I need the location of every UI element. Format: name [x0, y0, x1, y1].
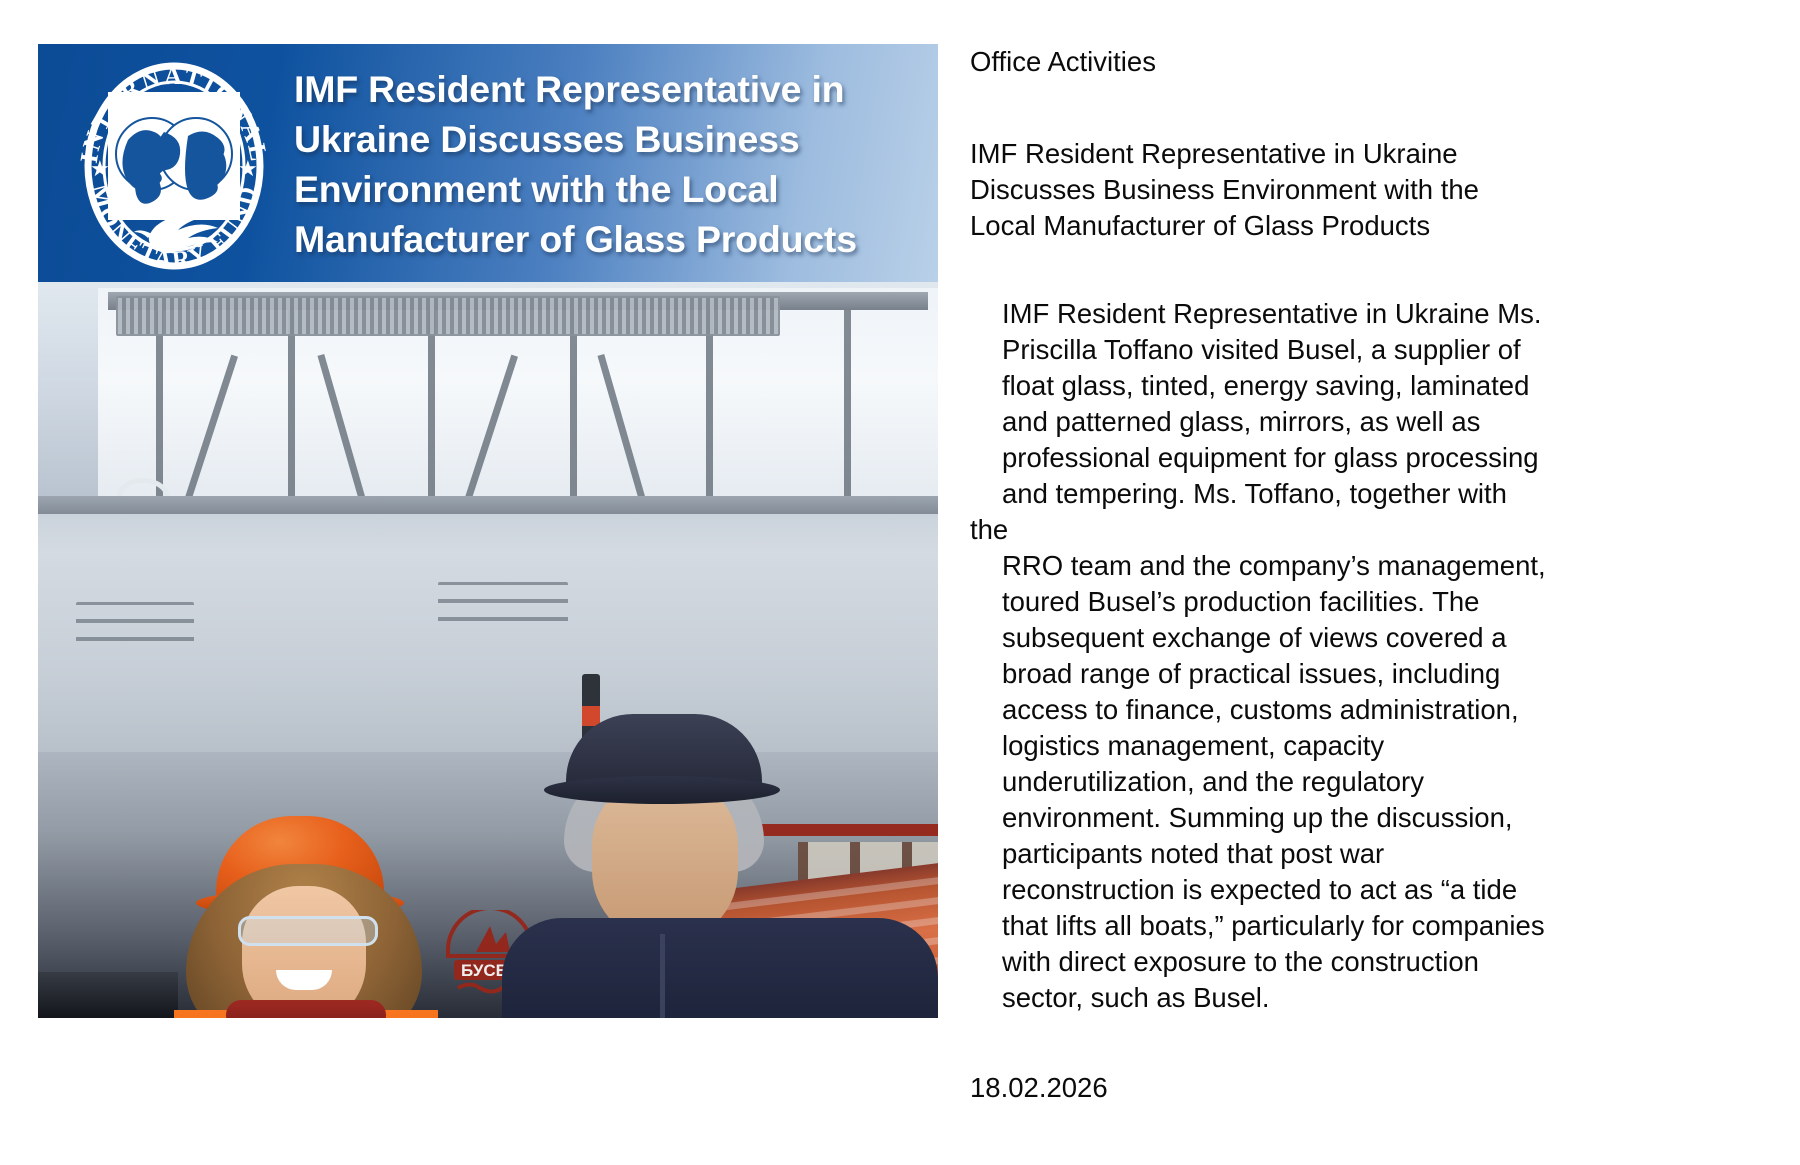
body-line: reconstruction is expected to act as “a … [970, 872, 1550, 908]
safety-glasses [238, 916, 378, 946]
body-line: toured Busel’s production facilities. Th… [970, 584, 1550, 620]
imf-seal-logo: INTERNATIONAL MONETARY FUND ★ ★ [60, 48, 288, 280]
body-line: participants noted that post war [970, 836, 1550, 872]
headline-line: Discusses Business Environment with the [970, 172, 1550, 208]
body-line: IMF Resident Representative in Ukraine M… [970, 296, 1550, 332]
body-line: Priscilla Toffano visited Busel, a suppl… [970, 332, 1550, 368]
banner-title: IMF Resident Representative in Ukraine D… [294, 64, 914, 264]
body-line: access to finance, customs administratio… [970, 692, 1550, 728]
article-text-column: Office Activities IMF Resident Represent… [970, 44, 1550, 1106]
body-line: RRO team and the company’s management, [970, 548, 1550, 584]
headline-line: IMF Resident Representative in Ukraine [970, 136, 1550, 172]
svg-text:★: ★ [238, 156, 258, 181]
factory-visit-photo: БУСЕЛ [38, 282, 938, 1018]
banner-title-line: IMF Resident Representative in [294, 64, 914, 114]
body-line: subsequent exchange of views covered a [970, 620, 1550, 656]
imf-banner: INTERNATIONAL MONETARY FUND ★ ★ IMF Resi… [38, 44, 938, 282]
article-date: 18.02.2026 [970, 1070, 1550, 1106]
body-line: and patterned glass, mirrors, as well as [970, 404, 1550, 440]
article-kicker: Office Activities [970, 44, 1550, 80]
body-line: logistics management, capacity [970, 728, 1550, 764]
body-line: float glass, tinted, energy saving, lami… [970, 368, 1550, 404]
banner-title-line: Ukraine Discusses Business [294, 114, 914, 164]
body-line: broad range of practical issues, includi… [970, 656, 1550, 692]
body-line: and tempering. Ms. Toffano, together wit… [970, 476, 1550, 548]
body-line: sector, such as Busel. [970, 980, 1550, 1016]
body-line: professional equipment for glass process… [970, 440, 1550, 476]
body-line: underutilization, and the regulatory [970, 764, 1550, 800]
article-body: IMF Resident Representative in Ukraine M… [970, 296, 1550, 1016]
body-line: with direct exposure to the construction [970, 944, 1550, 980]
body-line: environment. Summing up the discussion, [970, 800, 1550, 836]
banner-title-line: Manufacturer of Glass Products [294, 214, 914, 264]
article-headline: IMF Resident Representative in Ukraine D… [970, 136, 1550, 244]
banner-title-line: Environment with the Local [294, 164, 914, 214]
article-media-column: INTERNATIONAL MONETARY FUND ★ ★ IMF Resi… [38, 44, 938, 1121]
photo-tone-overlay [38, 282, 938, 1018]
red-scarf [226, 1000, 386, 1018]
svg-text:★: ★ [90, 156, 110, 181]
woman-face [242, 886, 366, 1018]
headline-line: Local Manufacturer of Glass Products [970, 208, 1550, 244]
body-line: that lifts all boats,” particularly for … [970, 908, 1550, 944]
